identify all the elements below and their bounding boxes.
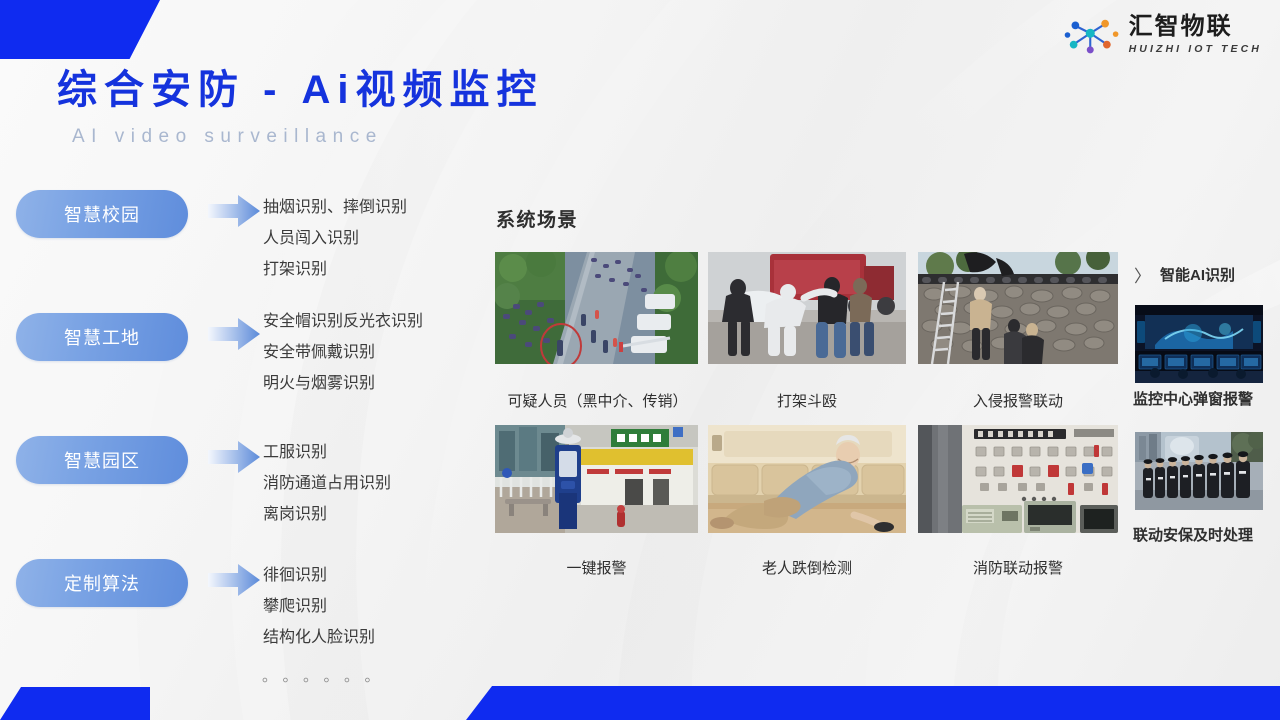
- scene-caption-6: 消防联动报警: [918, 557, 1118, 578]
- molecule-network-icon: [1064, 14, 1120, 56]
- category-pill-label: 智慧工地: [64, 324, 140, 350]
- category-item: 徘徊识别: [263, 560, 375, 591]
- category-item: 人员闯入识别: [263, 223, 407, 254]
- ellipsis-dots: 。。。。。。: [262, 665, 393, 686]
- scene-caption-3: 入侵报警联动: [918, 390, 1118, 411]
- chevron-right-icon: 〉: [1134, 262, 1151, 287]
- logo-text-cn: 汇智物联: [1129, 15, 1262, 39]
- category-item: 安全帽识别反光衣识别: [263, 306, 423, 337]
- corner-accent-bottom-left: [0, 687, 150, 720]
- ai-recognition-text: 智能AI识别: [1160, 264, 1235, 285]
- side-thumb-1[interactable]: [1135, 305, 1263, 383]
- category-pill-2[interactable]: 智慧工地: [16, 313, 188, 361]
- category-pill-label: 智慧校园: [64, 201, 140, 227]
- corner-accent-bottom-right: [466, 686, 1280, 720]
- category-pill-3[interactable]: 智慧园区: [16, 436, 188, 484]
- scene-thumb-5[interactable]: [708, 425, 906, 533]
- category-pill-4[interactable]: 定制算法: [16, 559, 188, 607]
- scene-caption-5: 老人跌倒检测: [708, 557, 906, 578]
- category-item: 抽烟识别、摔倒识别: [263, 192, 407, 223]
- arrow-right-icon-1: [208, 195, 260, 227]
- security-guards-image: [1135, 432, 1263, 510]
- category-item: 消防通道占用识别: [263, 468, 391, 499]
- page-subtitle: AI video surveillance: [72, 126, 383, 148]
- scene-thumb-6[interactable]: [918, 425, 1118, 533]
- side-caption-2: 联动安保及时处理: [1133, 524, 1273, 545]
- arrow-right-icon-4: [208, 564, 260, 596]
- wall-climbing-intrusion-image: [918, 252, 1118, 364]
- category-items-1: 抽烟识别、摔倒识别 人员闯入识别 打架识别: [263, 192, 407, 285]
- control-room-image: [1135, 305, 1263, 383]
- slide-root: 汇智物联 HUIZHI IOT TECH 综合安防 - Ai视频监控 AI vi…: [0, 0, 1280, 720]
- category-item: 离岗识别: [263, 499, 391, 530]
- emergency-call-pillar-image: [495, 425, 698, 533]
- category-pill-1[interactable]: 智慧校园: [16, 190, 188, 238]
- arrow-right-icon-2: [208, 318, 260, 350]
- street-crowd-surveillance-image: [495, 252, 698, 364]
- category-pill-label: 定制算法: [64, 570, 140, 596]
- category-item: 攀爬识别: [263, 591, 375, 622]
- category-item: 工服识别: [263, 437, 391, 468]
- category-item: 打架识别: [263, 254, 407, 285]
- category-item: 结构化人脸识别: [263, 622, 375, 653]
- category-items-4: 徘徊识别 攀爬识别 结构化人脸识别: [263, 560, 375, 653]
- page-title: 综合安防 - Ai视频监控: [57, 70, 544, 110]
- scene-thumb-4[interactable]: [495, 425, 698, 533]
- scene-thumb-3[interactable]: [918, 252, 1118, 364]
- category-item: 明火与烟雾识别: [263, 368, 423, 399]
- street-fight-image: [708, 252, 906, 364]
- scene-caption-4: 一键报警: [495, 557, 698, 578]
- scene-thumb-2[interactable]: [708, 252, 906, 364]
- category-items-2: 安全帽识别反光衣识别 安全带佩戴识别 明火与烟雾识别: [263, 306, 423, 399]
- category-item: 安全带佩戴识别: [263, 337, 423, 368]
- scenes-heading: 系统场景: [496, 205, 578, 232]
- side-thumb-2[interactable]: [1135, 432, 1263, 510]
- arrow-right-icon-3: [208, 441, 260, 473]
- category-pill-label: 智慧园区: [64, 447, 140, 473]
- brand-logo: 汇智物联 HUIZHI IOT TECH: [1064, 14, 1262, 56]
- fire-control-panel-image: [918, 425, 1118, 533]
- logo-text-en: HUIZHI IOT TECH: [1129, 44, 1262, 55]
- elderly-fall-image: [708, 425, 906, 533]
- corner-accent-top-left: [0, 0, 160, 59]
- scene-caption-1: 可疑人员（黑中介、传销）: [495, 390, 700, 411]
- scene-thumb-1[interactable]: [495, 252, 698, 364]
- category-items-3: 工服识别 消防通道占用识别 离岗识别: [263, 437, 391, 530]
- side-caption-1: 监控中心弹窗报警: [1133, 388, 1267, 409]
- scene-caption-2: 打架斗殴: [708, 390, 906, 411]
- ai-recognition-label: 〉 智能AI识别: [1134, 262, 1235, 287]
